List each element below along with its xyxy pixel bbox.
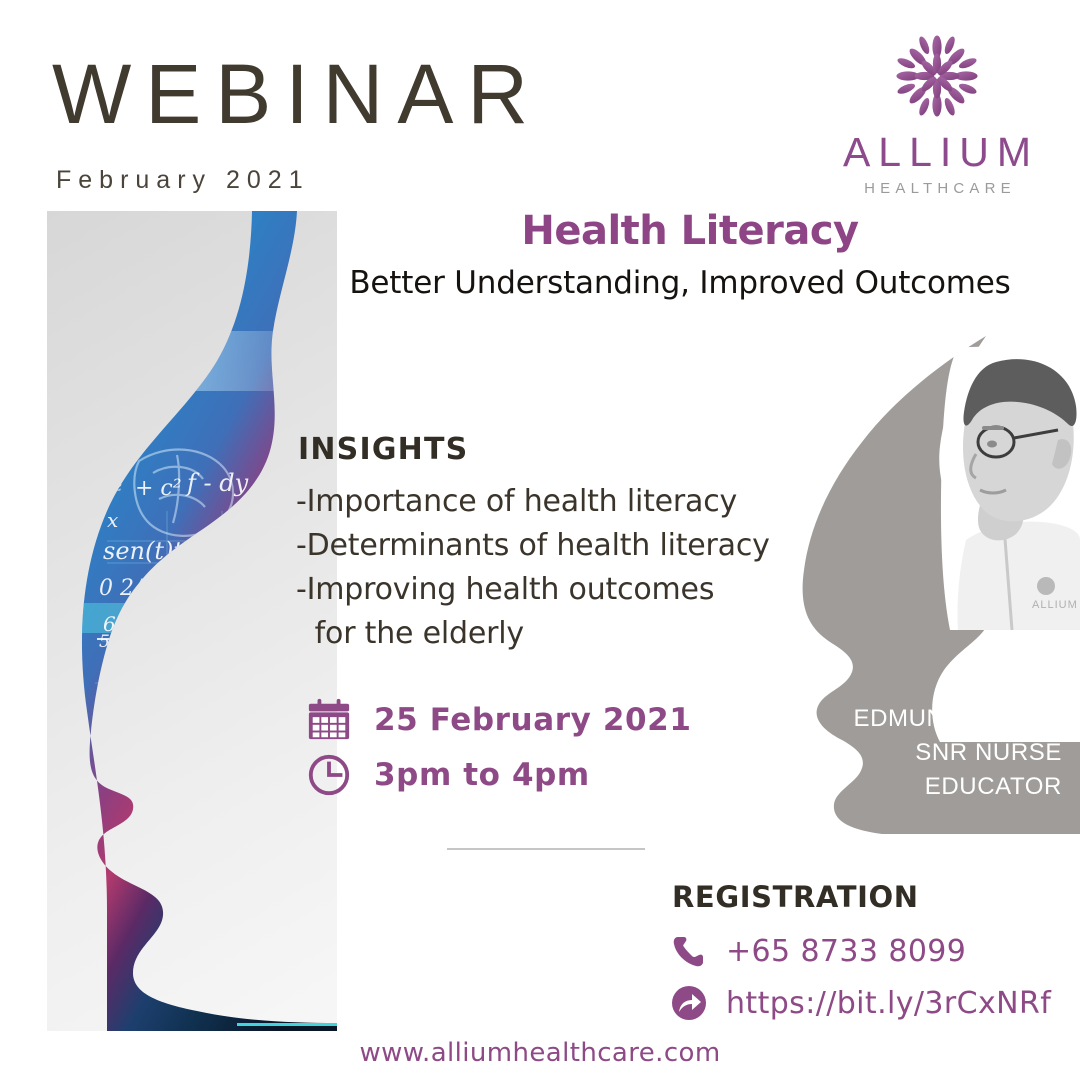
calendar-icon [306, 697, 352, 743]
svg-text:D-58457-DJ-JK: D-58457-DJ-JK [243, 1006, 337, 1020]
allium-flower-icon [885, 24, 989, 128]
svg-text:mirror_mo: mirror_mo [185, 792, 255, 807]
svg-text:+ c²: + c² [135, 476, 182, 501]
page-title: WEBINAR [52, 52, 542, 136]
footer-website[interactable]: www.alliumhealthcare.com [0, 1038, 1080, 1068]
svg-text:f - dy: f - dy [185, 469, 249, 497]
speaker-caption: EDMUND CHONG SNR NURSE EDUCATOR [812, 702, 1062, 804]
speaker-name: EDMUND CHONG [812, 702, 1062, 736]
registration-phone-row[interactable]: +65 8733 8099 [670, 925, 1051, 977]
registration-details: +65 8733 8099 https://bit.ly/3rCxNRf [670, 925, 1051, 1029]
svg-text:0 2/p: 0 2/p [99, 576, 155, 601]
event-schedule: 25 February 2021 3pm to 4pm [306, 692, 692, 802]
speaker-role-line1: SNR NURSE [812, 736, 1062, 770]
svg-text:mirror: mirror [185, 846, 232, 861]
brand-logo: ALLIUM HEALTHCARE [832, 24, 1042, 197]
svg-text:x: x [107, 508, 118, 532]
share-arrow-icon [670, 984, 708, 1022]
insights-heading: INSIGHTS [298, 432, 468, 467]
event-date-row: 25 February 2021 [306, 692, 692, 747]
svg-text:mirror_: mirror_ [185, 774, 240, 789]
brand-tagline: HEALTHCARE [832, 180, 1042, 197]
svg-text:59: 59 [99, 632, 121, 652]
event-time-row: 3pm to 4pm [306, 747, 692, 802]
svg-text:if _operat: if _operat [175, 756, 253, 771]
svg-text:cos x: cos x [103, 664, 160, 689]
svg-text:elif _operation: elif _operation [165, 828, 282, 843]
svg-text:ALLIUM: ALLIUM [1032, 599, 1078, 611]
svg-text:sen(t)t: sen(t)t [103, 537, 183, 565]
webinar-poster: WEBINAR February 2021 [0, 0, 1080, 1080]
svg-text:3xy²+1: 3xy²+1 [95, 696, 175, 721]
clock-icon [306, 752, 352, 798]
webinar-topic-subtitle: Better Understanding, Improved Outcomes [300, 265, 1060, 301]
event-date: 25 February 2021 [374, 702, 692, 738]
svg-text:8: 8 [157, 630, 170, 654]
speaker-block: ALLIUM EDMUND CHONG SNR NURSE EDUCATOR [790, 330, 1080, 850]
speaker-role-line2: EDUCATOR [812, 770, 1062, 804]
svg-text:miH-ΣpSo: miH-ΣpSo [197, 724, 284, 744]
brand-wordmark: ALLIUM [832, 132, 1042, 173]
header-month-year: February 2021 [56, 166, 310, 195]
event-time: 3pm to 4pm [374, 757, 590, 793]
phone-icon [670, 932, 708, 970]
digital-head-profile-graphic: c² + c² f - dy x sen(t)t 0 2/p 6 59 18 8… [47, 211, 337, 1031]
svg-text:c²: c² [103, 478, 122, 502]
section-divider [447, 848, 645, 850]
svg-text:mirror_mod: mirror_mod [185, 810, 263, 825]
registration-heading: REGISTRATION [672, 880, 919, 914]
registration-link[interactable]: https://bit.ly/3rCxNRf [726, 986, 1051, 1021]
registration-phone: +65 8733 8099 [726, 934, 966, 969]
registration-link-row[interactable]: https://bit.ly/3rCxNRf [670, 977, 1051, 1029]
webinar-topic-title: Health Literacy [340, 208, 1040, 254]
svg-text:18: 18 [155, 610, 180, 634]
head-silhouette-image: c² + c² f - dy x sen(t)t 0 2/p 6 59 18 8… [47, 211, 337, 1031]
